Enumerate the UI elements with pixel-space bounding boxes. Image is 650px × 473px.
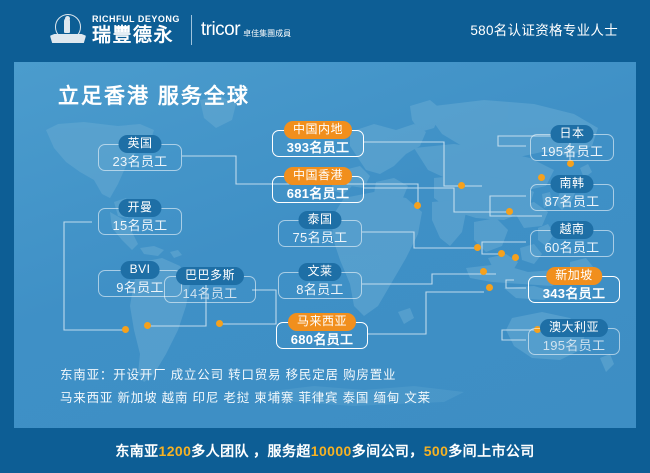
callout-barbados-value: 14名员工 <box>183 283 238 302</box>
footer-seg-4: 多间上市公司 <box>448 443 534 459</box>
page-title: 立足香港 服务全球 <box>58 80 250 110</box>
partner-name-en: tricor <box>201 20 240 40</box>
notes-line-services: 东南亚：开设开厂 成立公司 转口贸易 移民定居 购房置业 <box>60 364 431 387</box>
callout-cayman[interactable]: 开曼 15名员工 <box>98 208 182 235</box>
callout-uk[interactable]: 英国 23名员工 <box>98 144 182 171</box>
partner-name-cn: 卓佳集團成員 <box>243 28 291 40</box>
map-dot-uk <box>414 202 421 209</box>
callout-barbados-label: 巴巴多斯 <box>176 267 244 285</box>
brand-name-cn: 瑞豐德永 <box>92 25 180 46</box>
map-dot-skorea <box>538 174 545 181</box>
brand-name-block: RICHFUL DEYONG 瑞豐德永 <box>92 14 180 46</box>
callout-singapore[interactable]: 新加坡 343名员工 <box>528 276 620 303</box>
callout-south-korea-label: 南韩 <box>550 175 593 193</box>
page-header: RICHFUL DEYONG 瑞豐德永 tricor 卓佳集團成員 580名认证… <box>0 0 650 58</box>
map-panel: 立足香港 服务全球 英国 23名员工 开曼 15名员工 BVI 9名员工 巴巴多… <box>14 62 636 428</box>
crest-emblem-icon <box>50 14 86 46</box>
callout-south-korea[interactable]: 南韩 87名员工 <box>530 184 614 211</box>
callout-brunei-value: 8名员工 <box>296 279 343 298</box>
callout-singapore-value: 343名员工 <box>543 283 606 302</box>
callout-hong-kong-value: 681名员工 <box>287 183 350 202</box>
map-dot-cayman <box>122 326 129 333</box>
callout-thailand-label: 泰国 <box>298 211 341 229</box>
footer-number-companies: 10000 <box>311 443 352 459</box>
map-dot-barbados <box>216 320 223 327</box>
map-dot-hongkong <box>506 208 513 215</box>
map-dot-mainland <box>458 182 465 189</box>
footer-seg-1: 东南亚 <box>115 443 158 459</box>
map-dot-thailand <box>474 244 481 251</box>
callout-uk-value: 23名员工 <box>113 151 168 170</box>
callout-malaysia[interactable]: 马来西亚 680名员工 <box>276 322 368 349</box>
callout-cayman-value: 15名员工 <box>113 215 168 234</box>
poster-root: RICHFUL DEYONG 瑞豐德永 tricor 卓佳集團成員 580名认证… <box>0 0 650 473</box>
footer-summary: 东南亚1200多人团队 ，服务超10000多间公司，500多间上市公司 <box>115 441 534 461</box>
notes-line-countries: 马来西亚 新加坡 越南 印尼 老挝 柬埔寨 菲律宾 泰国 缅甸 文莱 <box>60 387 431 410</box>
callout-barbados[interactable]: 巴巴多斯 14名员工 <box>164 276 256 303</box>
callout-mainland-china-value: 393名员工 <box>287 137 350 156</box>
callout-australia[interactable]: 澳大利亚 195名员工 <box>528 328 620 355</box>
callout-mainland-china[interactable]: 中国内地 393名员工 <box>272 130 364 157</box>
footer-seg-3: 多间公司， <box>352 443 424 459</box>
footer-number-team: 1200 <box>159 443 192 459</box>
callout-mainland-china-label: 中国内地 <box>284 121 352 139</box>
callout-cayman-label: 开曼 <box>118 199 161 217</box>
callout-australia-label: 澳大利亚 <box>540 319 608 337</box>
page-footer: 东南亚1200多人团队 ，服务超10000多间公司，500多间上市公司 <box>0 428 650 473</box>
callout-bvi-label: BVI <box>121 261 160 279</box>
callout-japan-label: 日本 <box>550 125 593 143</box>
callout-brunei[interactable]: 文莱 8名员工 <box>278 272 362 299</box>
callout-australia-value: 195名员工 <box>543 335 606 354</box>
footer-seg-2: 多人团队 ，服务超 <box>191 443 311 459</box>
callout-thailand-value: 75名员工 <box>293 227 348 246</box>
map-dot-vietnam <box>498 250 505 257</box>
callout-uk-label: 英国 <box>118 135 161 153</box>
callout-singapore-label: 新加坡 <box>546 267 602 285</box>
vertical-divider-icon <box>191 15 192 45</box>
callout-vietnam[interactable]: 越南 60名员工 <box>530 230 614 257</box>
callout-hong-kong-label: 中国香港 <box>284 167 352 185</box>
partner-logo: tricor 卓佳集團成員 <box>201 20 291 40</box>
brand-logo[interactable]: RICHFUL DEYONG 瑞豐德永 tricor 卓佳集團成員 <box>50 14 291 46</box>
header-tagline: 580名认证资格专业人士 <box>470 19 618 39</box>
map-dot-malaysia <box>480 268 487 275</box>
brand-name-en: RICHFUL DEYONG <box>92 14 180 25</box>
callout-malaysia-value: 680名员工 <box>291 329 354 348</box>
callout-japan[interactable]: 日本 195名员工 <box>530 134 614 161</box>
map-dot-japan <box>567 160 574 167</box>
callout-vietnam-value: 60名员工 <box>545 237 600 256</box>
map-dot-bvi <box>144 322 151 329</box>
notes-block: 东南亚：开设开厂 成立公司 转口贸易 移民定居 购房置业 马来西亚 新加坡 越南… <box>60 364 431 410</box>
map-dot-brunei <box>512 254 519 261</box>
callout-japan-value: 195名员工 <box>541 141 604 160</box>
callout-brunei-label: 文莱 <box>298 263 341 281</box>
callout-bvi-value: 9名员工 <box>116 277 163 296</box>
map-dot-singapore <box>486 284 493 291</box>
callout-thailand[interactable]: 泰国 75名员工 <box>278 220 362 247</box>
callout-vietnam-label: 越南 <box>550 221 593 239</box>
callout-malaysia-label: 马来西亚 <box>288 313 356 331</box>
callout-south-korea-value: 87名员工 <box>545 191 600 210</box>
footer-number-listed: 500 <box>424 443 449 459</box>
callout-hong-kong[interactable]: 中国香港 681名员工 <box>272 176 364 203</box>
